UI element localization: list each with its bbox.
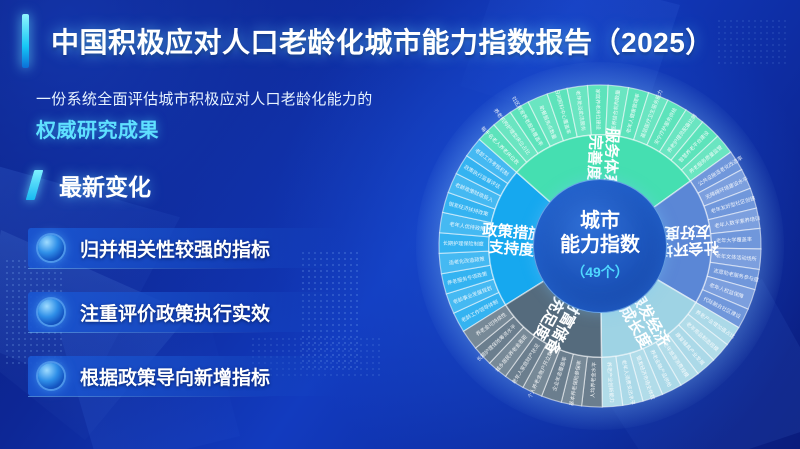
hub-title-line-1: 城市	[580, 210, 620, 234]
hub-title-line-2: 能力指数	[560, 234, 640, 258]
list-item-label: 注重评价政策执行实效	[80, 299, 270, 326]
title-row: 中国积极应对人口老龄化城市能力指数报告（2025）	[22, 14, 714, 68]
bullet-sphere-icon	[38, 235, 64, 261]
list-item-label: 归并相关性较强的指标	[80, 235, 270, 262]
bullet-list: 归并相关性较强的指标 注重评价政策执行实效 根据政策导向新增指标	[28, 228, 344, 420]
page-title: 中国积极应对人口老龄化城市能力指数报告（2025）	[51, 21, 714, 61]
section-heading-row: 最新变化	[30, 168, 151, 202]
hub-indicator-count: （49个）	[571, 262, 629, 282]
decor-dot-grid-4	[716, 18, 786, 64]
bullet-sphere-icon	[38, 299, 64, 325]
slide-canvas: 中国积极应对人口老龄化城市能力指数报告（2025） 一份系统全面评估城市积极应对…	[0, 0, 800, 449]
list-item[interactable]: 归并相关性较强的指标	[28, 228, 344, 268]
sunburst-chart[interactable]: 政策措施支持度服务体系完善度社会环境友好度银发经济成长度财富储备充足度 老龄工作…	[434, 80, 766, 412]
chart-center-hub: 城市 能力指数 （49个）	[533, 179, 667, 313]
bullet-sphere-icon	[38, 363, 64, 389]
list-item[interactable]: 注重评价政策执行实效	[28, 292, 344, 332]
subtitle-line-2: 权威研究成果	[36, 114, 436, 143]
list-item-label: 根据政策导向新增指标	[80, 363, 270, 390]
subtitle-block: 一份系统全面评估城市积极应对人口老龄化能力的 权威研究成果	[36, 88, 436, 143]
section-accent-bar	[26, 170, 44, 200]
section-title: 最新变化	[59, 168, 151, 202]
subtitle-line-1: 一份系统全面评估城市积极应对人口老龄化能力的	[36, 88, 436, 109]
list-item[interactable]: 根据政策导向新增指标	[28, 356, 344, 396]
title-accent-bar	[22, 14, 29, 68]
